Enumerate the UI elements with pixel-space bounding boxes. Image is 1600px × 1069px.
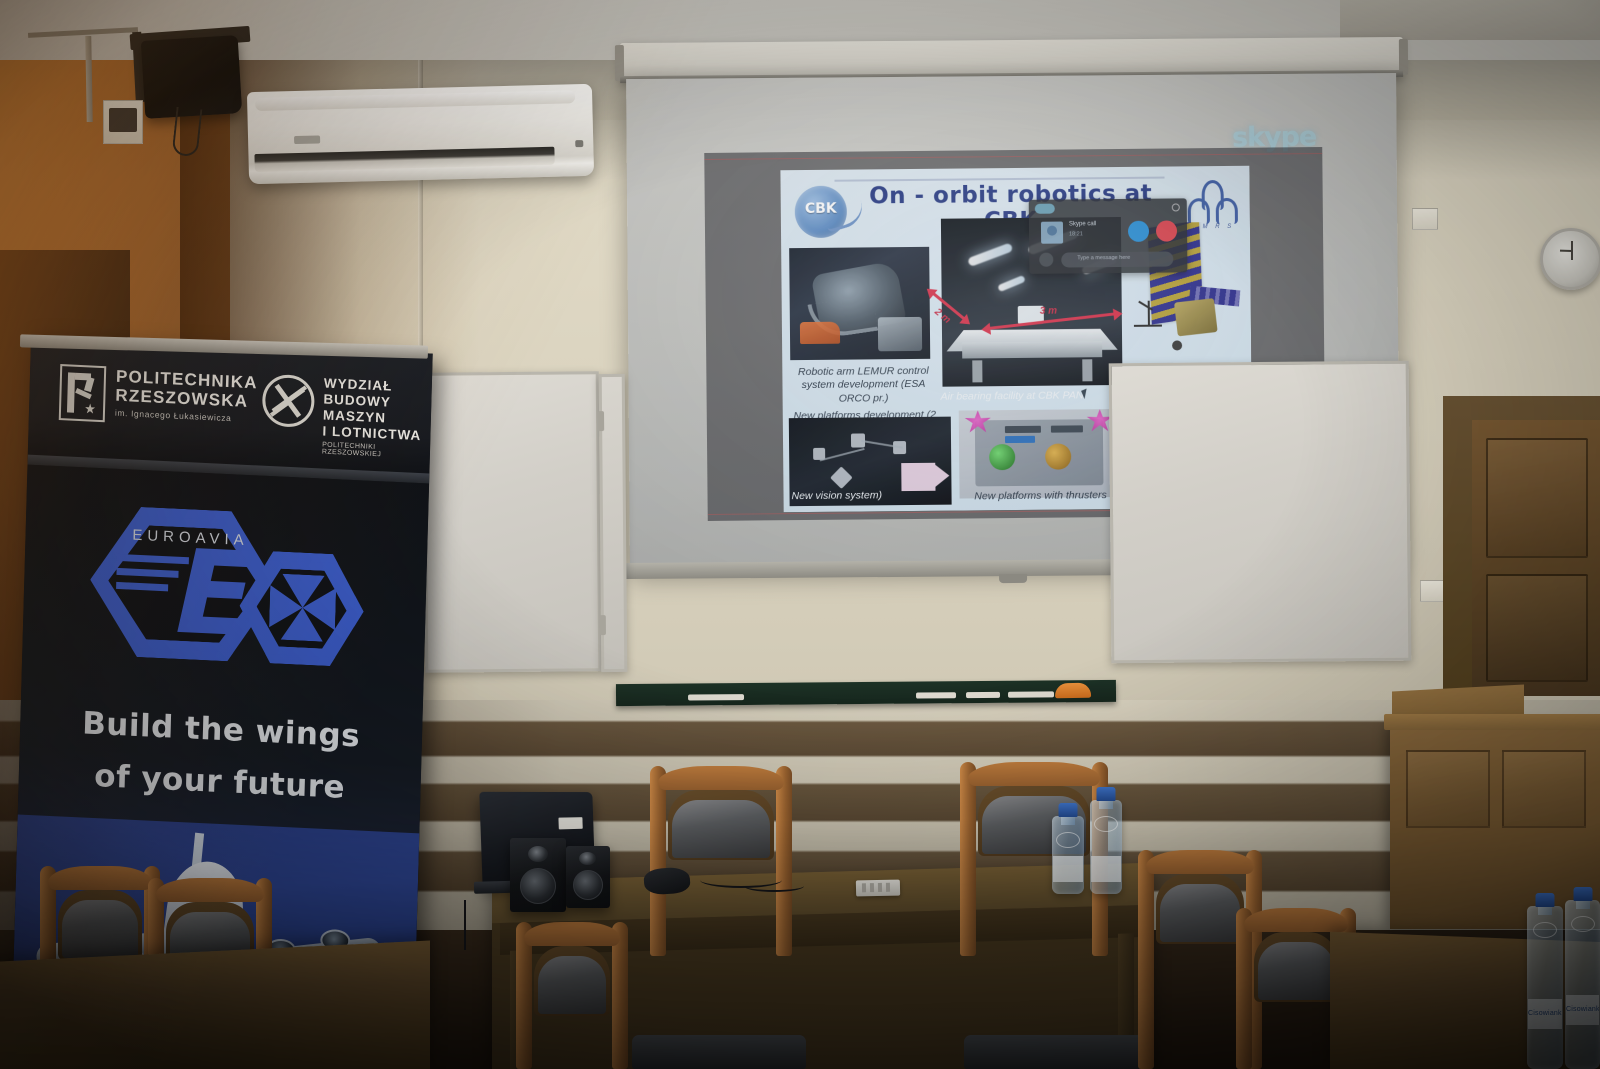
chair-post-left: [650, 766, 666, 956]
whiteboard-right-panel: [1109, 361, 1412, 664]
screen-case-endcap-left: [615, 45, 624, 81]
caption-robotic-arm: Robotic arm LEMUR control system develop…: [790, 365, 936, 407]
ac-indicator-led: [575, 140, 583, 147]
vision-link-1: [820, 448, 865, 461]
desk-cable-2: [744, 880, 804, 892]
marker-1[interactable]: [688, 694, 744, 700]
bottle-emboss: [1533, 922, 1557, 938]
bottle-cap: [1536, 893, 1555, 907]
platform-module-2: [1051, 425, 1083, 432]
banner-tagline-line1: Build the wings: [20, 703, 423, 758]
water-bottle-3[interactable]: Cisowianka: [1527, 906, 1563, 1069]
robotic-arm-orange-part: [800, 322, 840, 344]
speaker-woofer: [520, 868, 556, 904]
ac-brand-logo: [294, 135, 320, 144]
platform-tank-amber: [1045, 443, 1071, 469]
chair-back-cushion: [1258, 942, 1334, 1000]
robotic-arm-gripper: [878, 317, 922, 351]
water-bottle-2[interactable]: [1090, 800, 1122, 894]
door-panel-upper: [1486, 438, 1588, 558]
chair-top-rail: [658, 766, 784, 790]
faculty-text: WYDZIAŁ BUDOWY MASZYN I LOTNICTWA POLITE…: [322, 375, 432, 460]
light-switch-upper[interactable]: [1412, 208, 1438, 230]
bottle-cap: [1059, 803, 1078, 817]
whiteboard-left-panel: [423, 371, 602, 673]
lecture-hall-photo: skype CBK On - orbit robotics at CBK L M…: [0, 0, 1600, 1069]
bottle-label: Cisowianka: [1528, 999, 1562, 1029]
cabinet-door-right[interactable]: [1502, 750, 1586, 828]
chair-front-center-right[interactable]: [968, 942, 1140, 1069]
front-table-left: [0, 941, 430, 1069]
chair-front-center-left[interactable]: [636, 946, 802, 1069]
chair-post-left: [1138, 850, 1154, 1069]
water-bottle-1[interactable]: [1052, 816, 1084, 894]
coordinate-axes-icon: [1134, 301, 1164, 331]
bottle-label: Cisowianka: [1566, 995, 1599, 1025]
screen-case-endcap-right: [1399, 39, 1408, 75]
chair-seat: [632, 1035, 806, 1069]
slide-top-rule: [704, 153, 1322, 160]
skype-call-overlay[interactable]: Skype call 18:21 Type a message here: [1029, 198, 1188, 274]
faculty-subtitle: POLITECHNIKI RZESZOWSKIEJ: [322, 441, 430, 460]
chair-center-right[interactable]: [960, 762, 1108, 956]
bottle-label: [1091, 856, 1121, 882]
chair-post-right: [776, 766, 792, 956]
ceiling-lamp-reflection-4: [997, 275, 1026, 292]
board-eraser[interactable]: [1055, 683, 1091, 699]
platform-module-3: [1005, 436, 1035, 443]
speaker-tweeter: [579, 852, 596, 865]
marker-tray: [616, 680, 1116, 706]
chair-top-rail: [1244, 908, 1348, 932]
bottle-label: [1053, 856, 1083, 882]
door[interactable]: [1472, 420, 1600, 696]
chair-foreground-3[interactable]: [516, 922, 628, 1069]
dimension-label-3m: 3 m: [1040, 306, 1057, 317]
bottle-emboss: [1056, 832, 1080, 848]
faculty-logo-icon: [262, 374, 315, 428]
slide-photo-platform-thrusters: [959, 409, 1120, 499]
marker-3[interactable]: [966, 692, 1000, 698]
chair-top-rail: [1146, 850, 1254, 874]
ceiling-right: [1340, 0, 1600, 40]
lmrs-arc-2: [1188, 198, 1210, 224]
avatar: [1041, 222, 1063, 244]
marker-2[interactable]: [916, 692, 956, 698]
ceiling-speaker: [141, 35, 243, 119]
close-icon[interactable]: [1172, 203, 1180, 211]
message-input[interactable]: Type a message here: [1061, 251, 1173, 267]
screen-pull-handle[interactable]: [999, 574, 1027, 583]
vision-output-box: [901, 463, 935, 491]
chair-top-rail: [156, 878, 264, 902]
euroavia-letter-e: E: [174, 547, 263, 655]
skype-logo-icon: [1035, 204, 1055, 214]
platform-tank-green: [989, 444, 1015, 470]
ceiling-lamp-reflection-1: [967, 242, 1013, 267]
wall-socket-plate: [103, 100, 143, 144]
chair-back-cushion: [1160, 884, 1240, 942]
granite-table-side: [962, 341, 1102, 358]
ac-air-louver: [254, 147, 554, 172]
answer-call-button[interactable]: [1128, 221, 1149, 242]
chair-seat: [964, 1035, 1144, 1069]
marker-4[interactable]: [1008, 691, 1054, 697]
caller-name: Skype call: [1069, 221, 1096, 227]
message-input-placeholder: Type a message here: [1077, 255, 1130, 262]
euroavia-logo-icon: EUROAVIA E: [88, 503, 366, 676]
chair-back-cushion: [672, 800, 770, 858]
chair-top-rail: [48, 866, 152, 890]
bottle-emboss: [1571, 916, 1595, 932]
whiteboard-hinge-bottom: [600, 615, 606, 635]
politechnika-rzeszowska-logo-icon: [59, 364, 107, 422]
desktop-speaker-right: [566, 846, 610, 908]
banner-tagline-line2: of your future: [18, 754, 421, 809]
desk-cable-3: [464, 900, 504, 950]
bottle-emboss: [1094, 816, 1118, 832]
chair-center-left[interactable]: [650, 766, 792, 956]
caption-thrusters: New platforms with thrusters: [962, 489, 1120, 504]
desktop-speaker-left: [510, 838, 566, 912]
chair-post-left: [1236, 908, 1252, 1069]
vision-node-4: [830, 466, 853, 489]
whiteboard-hinge-top: [598, 411, 604, 431]
chair-back-cushion: [538, 956, 606, 1014]
granite-table-leg-left: [972, 360, 982, 382]
satellite-body: [1174, 298, 1218, 336]
wooden-cabinet: [1390, 724, 1600, 929]
power-strip[interactable]: [856, 880, 900, 897]
caption-vision-system: New vision system): [791, 489, 911, 504]
bottle-cap: [1097, 787, 1116, 801]
call-duration: 18:21: [1069, 231, 1083, 237]
end-call-button[interactable]: [1156, 220, 1177, 241]
chair-top-rail: [524, 922, 620, 946]
cabinet-top: [1384, 714, 1600, 730]
chair-top-rail: [968, 762, 1100, 786]
satellite-gripper-dot: [1172, 340, 1182, 350]
faculty-name-line2: BUDOWY MASZYN: [323, 391, 432, 428]
speaker-tweeter: [528, 846, 548, 862]
cabinet-door-left[interactable]: [1406, 750, 1490, 828]
add-attachment-button[interactable]: [1039, 253, 1053, 267]
wall-socket: [109, 108, 137, 132]
wall-clock: [1540, 228, 1600, 290]
politechnika-rzeszowska-text: POLITECHNIKA RZESZOWSKA im. Ignacego Łuk…: [115, 367, 258, 425]
chair-back-cushion: [62, 900, 138, 958]
door-panel-lower: [1486, 574, 1588, 682]
air-conditioner: [247, 84, 594, 184]
slide-photo-robotic-arm: [789, 247, 930, 360]
bottle-cap: [1573, 887, 1592, 901]
speaker-woofer: [573, 870, 603, 900]
ac-top-vent: [255, 90, 575, 111]
granite-table-leg-right: [1082, 359, 1092, 381]
whiteboard-left-hinged-edge: [599, 374, 628, 672]
platform-module-1: [1005, 426, 1041, 433]
water-bottle-4[interactable]: Cisowianka: [1565, 900, 1600, 1069]
laptop-sticker: [558, 817, 582, 829]
vision-output-arrow-icon: [935, 465, 949, 487]
caption-air-bearing: Air bearing facility at CBK PAN.: [941, 389, 1125, 404]
lmrs-arc-3: [1216, 198, 1238, 224]
chair-post-left: [960, 762, 976, 956]
